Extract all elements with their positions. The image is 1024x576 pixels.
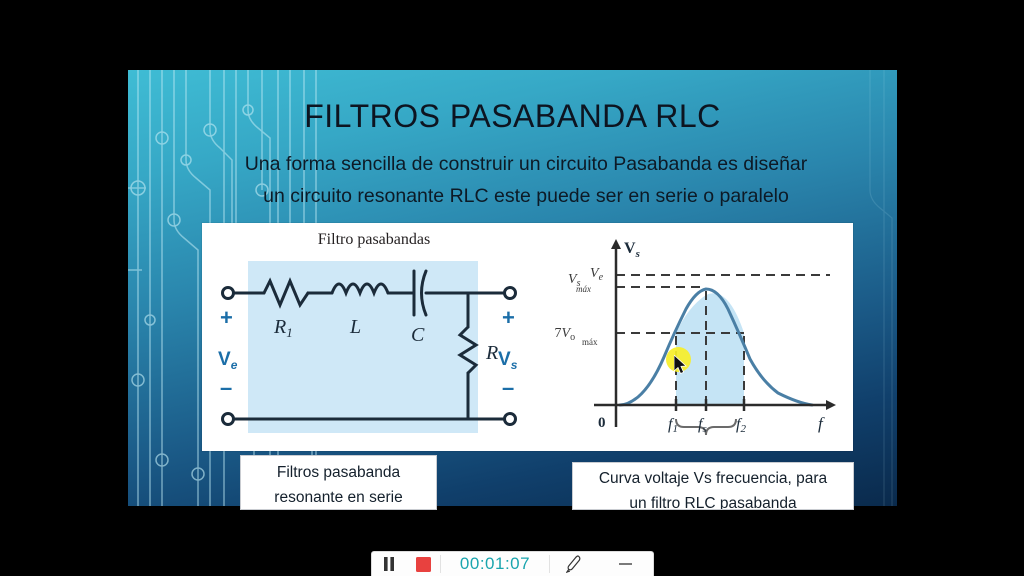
rlc-circuit-diagram: R1 L C R + – + – Ve Vs [218,253,536,443]
caption-graph: Curva voltaje Vs frecuencia, para un fil… [572,462,854,510]
y-tick-ve: Ve [590,266,604,283]
y-axis-arrow-icon [611,239,621,249]
input-terminal-bottom [223,414,234,425]
presentation-slide: FILTROS PASABANDA RLC Una forma sencilla… [128,70,897,506]
recording-timer: 00:01:07 [441,554,549,574]
caption-circuit-line-2: resonante en serie [247,485,430,510]
frequency-response-chart: Vs f 0 f1 fs f2 Vsmáx Ve 0.707Vomáx [554,229,844,447]
x-tick-fs: fs [698,416,707,435]
output-terminal-top [505,288,516,299]
label-l: L [349,316,361,338]
label-ve: Ve [218,349,238,372]
x-axis-arrow-icon [826,400,836,410]
y-tick-half-power: 0.707Vomáx [554,326,598,347]
figure-panel: Filtro pasabandas [202,223,853,451]
label-plus-input: + [220,305,233,330]
pen-icon [566,555,582,573]
page-title: FILTROS PASABANDA RLC [128,98,897,135]
input-terminal-top [223,288,234,299]
x-axis-label: f [818,414,825,433]
mouse-cursor-icon [674,355,690,375]
caption-circuit-line-1: Filtros pasabanda [247,460,430,485]
screen-recorder-toolbar[interactable]: 00:01:07 [371,551,654,576]
caption-circuit: Filtros pasabanda resonante en serie [240,455,437,510]
stop-icon [416,557,431,572]
y-axis-label: Vs [624,240,640,260]
label-minus-output: – [502,375,514,400]
label-vs: Vs [498,349,518,372]
circuit-figure-title: Filtro pasabandas [254,231,494,249]
label-minus-input: – [220,375,232,400]
caption-graph-line-1: Curva voltaje Vs frecuencia, para [581,466,845,491]
pause-button[interactable] [372,552,406,576]
pen-button[interactable] [550,552,598,576]
label-c: C [411,324,425,346]
minimize-icon [619,563,632,565]
label-plus-output: + [502,305,515,330]
stop-button[interactable] [406,552,440,576]
label-r: R [485,342,498,364]
output-terminal-bottom [505,414,516,425]
y-tick-vsmax: Vsmáx [568,272,591,294]
minimize-button[interactable] [598,563,653,565]
slide-body-line-1: Una forma sencilla de construir un circu… [176,148,876,180]
caption-graph-line-2: un filtro RLC pasabanda [581,491,845,510]
screen-capture: FILTROS PASABANDA RLC Una forma sencilla… [0,0,1024,576]
x-tick-f1: f1 [668,416,678,435]
x-tick-f2: f2 [736,416,746,435]
origin-label: 0 [598,415,606,431]
slide-body-line-2: un circuito resonante RLC este puede ser… [176,180,876,212]
slide-body-text: Una forma sencilla de construir un circu… [176,148,876,212]
pause-icon [383,557,395,571]
